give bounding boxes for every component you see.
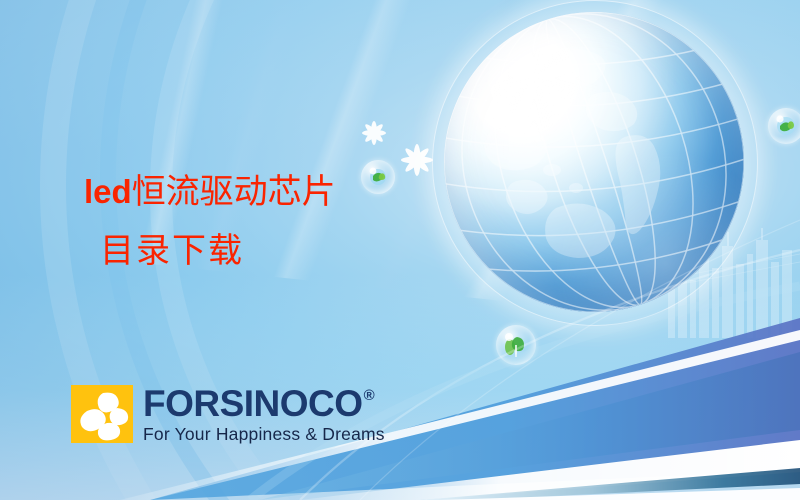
globe-highlight — [444, 12, 744, 312]
forsinoco-pinwheel-mark-icon — [71, 385, 133, 443]
logo-tagline: For Your Happiness & Dreams — [143, 424, 385, 444]
headline-line-1: led恒流驱动芯片 — [84, 162, 336, 222]
forsinoco-logo: FORSINOCO ® For Your Happiness & Dreams — [71, 385, 385, 444]
white-flower-large-icon — [395, 138, 439, 182]
logo-wordmark-row: FORSINOCO ® — [143, 387, 385, 421]
earth-globe-graphic — [444, 12, 744, 312]
bubble-globe-icon — [361, 160, 395, 194]
registered-trademark-icon: ® — [364, 388, 375, 403]
headline-cjk: 恒流驱动芯片 — [132, 174, 336, 211]
bubble-edge-icon — [768, 108, 800, 144]
white-flower-small-icon — [357, 116, 391, 150]
marketing-banner: led恒流驱动芯片 目录下载 FORSINOCO ® For Your Happ… — [0, 0, 800, 500]
logo-wordmark-text: FORSINOCO — [143, 387, 363, 421]
logo-text-block: FORSINOCO ® For Your Happiness & Dreams — [143, 385, 385, 444]
headline-latin: led — [84, 173, 132, 210]
headline-line-2: 目录下载 — [84, 222, 336, 281]
bubble-sprout-icon — [496, 325, 536, 365]
headline-text: led恒流驱动芯片 目录下载 — [84, 162, 336, 281]
